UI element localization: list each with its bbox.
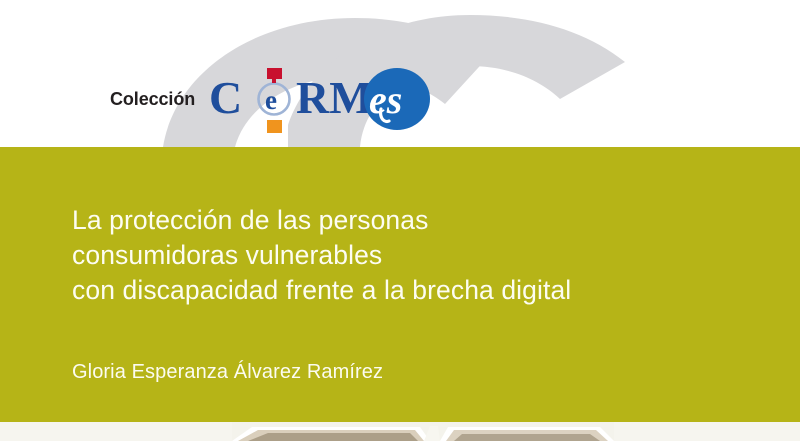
author-name: Gloria Esperanza Álvarez Ramírez	[72, 361, 383, 384]
book-title: La protección de las personas consumidor…	[72, 203, 712, 308]
svg-text:C: C	[209, 72, 242, 123]
title-line-1: La protección de las personas	[72, 203, 712, 238]
collection-row: Colección C e RMI e	[110, 76, 431, 122]
book-cover: Colección C e RMI e	[0, 0, 800, 441]
cermi-es-logo: C e RMI es	[209, 76, 431, 122]
svg-text:e: e	[265, 85, 277, 115]
title-line-3: con discapacidad frente a la brecha digi…	[72, 273, 712, 308]
header-band: Colección C e RMI e	[0, 0, 800, 147]
svg-text:es: es	[369, 77, 402, 122]
title-band: La protección de las personas consumidor…	[0, 147, 800, 422]
collection-label: Colección	[110, 89, 195, 110]
open-book-photo	[0, 422, 800, 441]
cermi-es-logo-mark: C e RMI es	[209, 63, 431, 135]
open-book-photo-graphic	[0, 422, 800, 441]
title-line-2: consumidoras vulnerables	[72, 238, 712, 273]
